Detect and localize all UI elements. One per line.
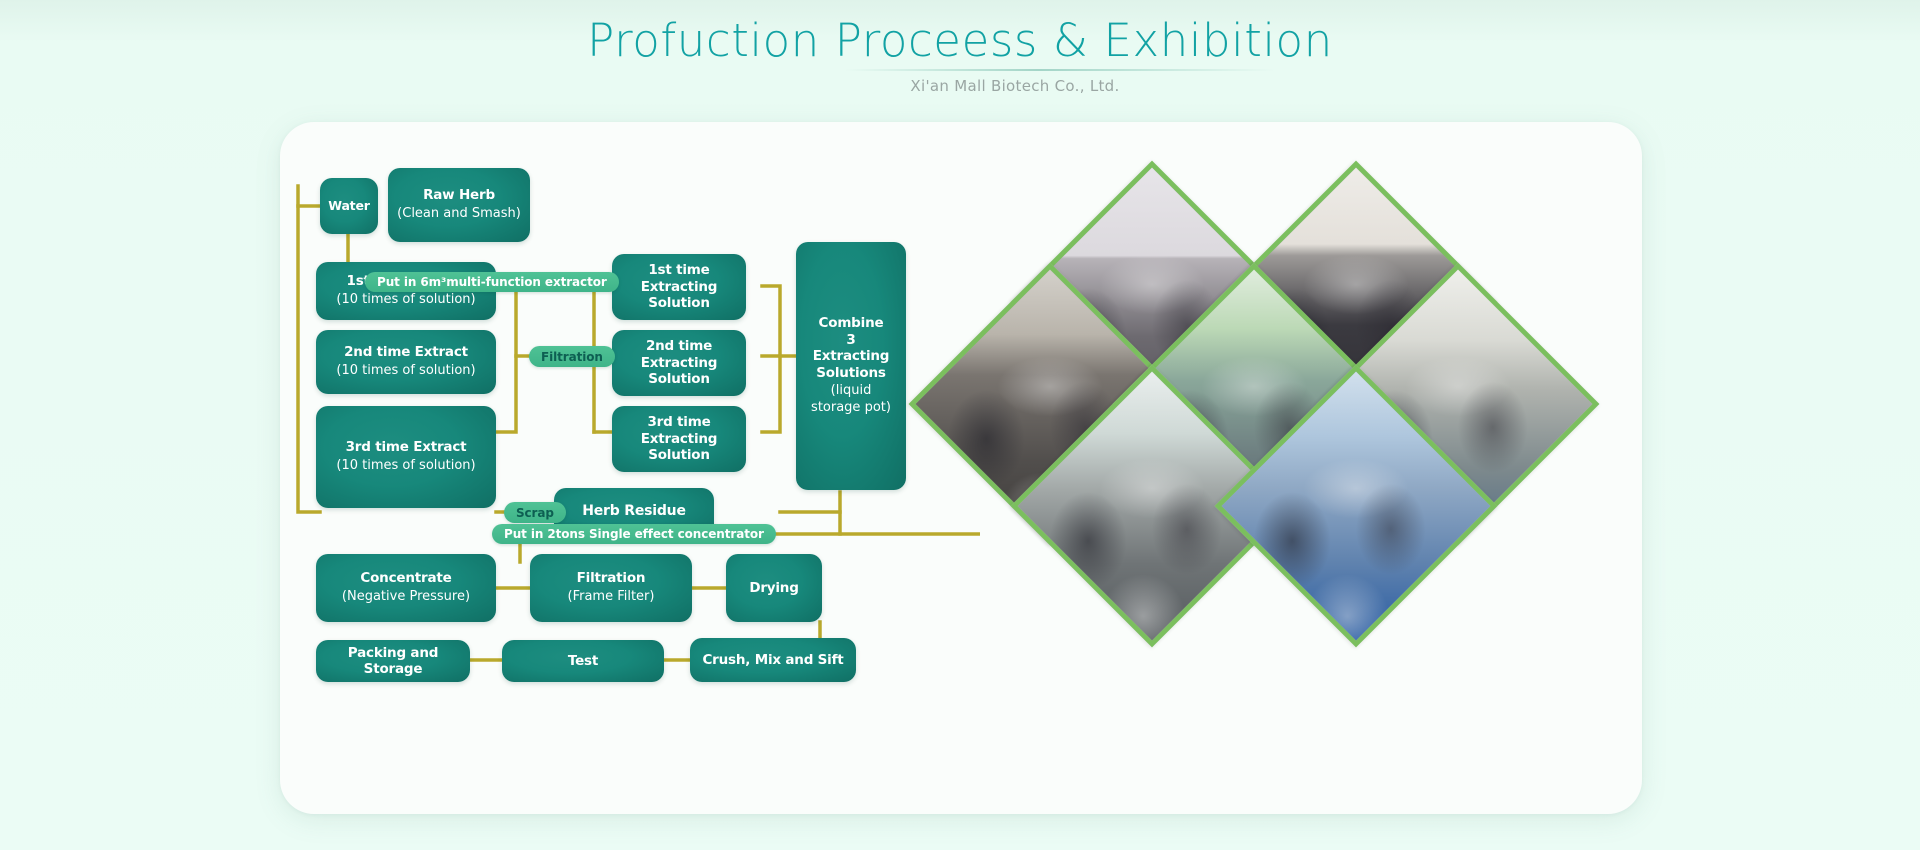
node-label: 3rd time Extract <box>346 439 467 455</box>
flow-node-extract-2[interactable]: 2nd time Extract (10 times of solution) <box>316 330 496 394</box>
node-label: Concentrate <box>360 570 451 586</box>
flow-node-combine[interactable]: Combine 3 Extracting Solutions (liquid s… <box>796 242 906 490</box>
node-sublabel: (Frame Filter) <box>568 589 655 606</box>
node-label: Herb Residue <box>582 503 686 520</box>
page-header: Profuction Proceess & Exhibition Xi'an M… <box>0 0 1920 95</box>
page-subtitle: Xi'an Mall Biotech Co., Ltd. <box>110 77 1920 95</box>
node-sublabel: (10 times of solution) <box>336 458 475 475</box>
flow-node-extract-3[interactable]: 3rd time Extract (10 times of solution) <box>316 406 496 508</box>
node-label: Water <box>328 198 369 213</box>
node-label: Filtration <box>577 570 646 586</box>
flow-node-filtration-frame[interactable]: Filtration (Frame Filter) <box>530 554 692 622</box>
pill-label: Filtration <box>541 350 603 364</box>
node-label: Packing and Storage <box>322 645 464 678</box>
exhibition-photo-collage <box>920 212 1580 682</box>
pill-scrap: Scrap <box>504 502 566 523</box>
flow-node-water[interactable]: Water <box>320 178 378 234</box>
pill-filtration: Filtration <box>529 346 615 367</box>
node-sublabel: (10 times of solution) <box>336 363 475 380</box>
flow-node-crush-mix-sift[interactable]: Crush, Mix and Sift <box>690 638 856 682</box>
node-label: Raw Herb <box>423 187 495 203</box>
pill-extractor: Put in 6m³multi-function extractor <box>365 272 619 292</box>
node-label: Crush, Mix and Sift <box>702 652 843 668</box>
node-label: Test <box>568 653 598 669</box>
flow-node-drying[interactable]: Drying <box>726 554 822 622</box>
node-label: Combine 3 Extracting Solutions <box>812 315 890 381</box>
node-label: Drying <box>749 580 798 596</box>
flow-node-packing-storage[interactable]: Packing and Storage <box>316 640 470 682</box>
title-divider <box>845 69 1275 71</box>
node-label: 2nd time Extract <box>344 344 468 360</box>
flow-node-raw-herb[interactable]: Raw Herb (Clean and Smash) <box>388 168 530 242</box>
node-sublabel: (Negative Pressure) <box>342 589 470 606</box>
flow-node-concentrate[interactable]: Concentrate (Negative Pressure) <box>316 554 496 622</box>
pill-concentrator: Put in 2tons Single effect concentrator <box>492 524 776 544</box>
node-sublabel: (10 times of solution) <box>336 292 475 309</box>
node-label: 1st time Extracting Solution <box>618 262 740 311</box>
node-label: 2nd time Extracting Solution <box>618 338 740 387</box>
pill-label: Scrap <box>516 506 554 520</box>
node-sublabel: (Clean and Smash) <box>397 206 521 223</box>
node-sublabel: (liquid storage pot) <box>809 383 893 416</box>
flow-node-solution-2[interactable]: 2nd time Extracting Solution <box>612 330 746 396</box>
node-label: 3rd time Extracting Solution <box>618 414 740 463</box>
flow-node-solution-3[interactable]: 3rd time Extracting Solution <box>612 406 746 472</box>
production-flowchart: Water Raw Herb (Clean and Smash) Put in … <box>280 122 980 814</box>
flow-node-solution-1[interactable]: 1st time Extracting Solution <box>612 254 746 320</box>
pill-label: Put in 6m³multi-function extractor <box>377 275 607 289</box>
flow-node-test[interactable]: Test <box>502 640 664 682</box>
pill-label: Put in 2tons Single effect concentrator <box>504 527 764 541</box>
page-title: Profuction Proceess & Exhibition <box>0 14 1920 67</box>
content-card: Water Raw Herb (Clean and Smash) Put in … <box>280 122 1642 814</box>
